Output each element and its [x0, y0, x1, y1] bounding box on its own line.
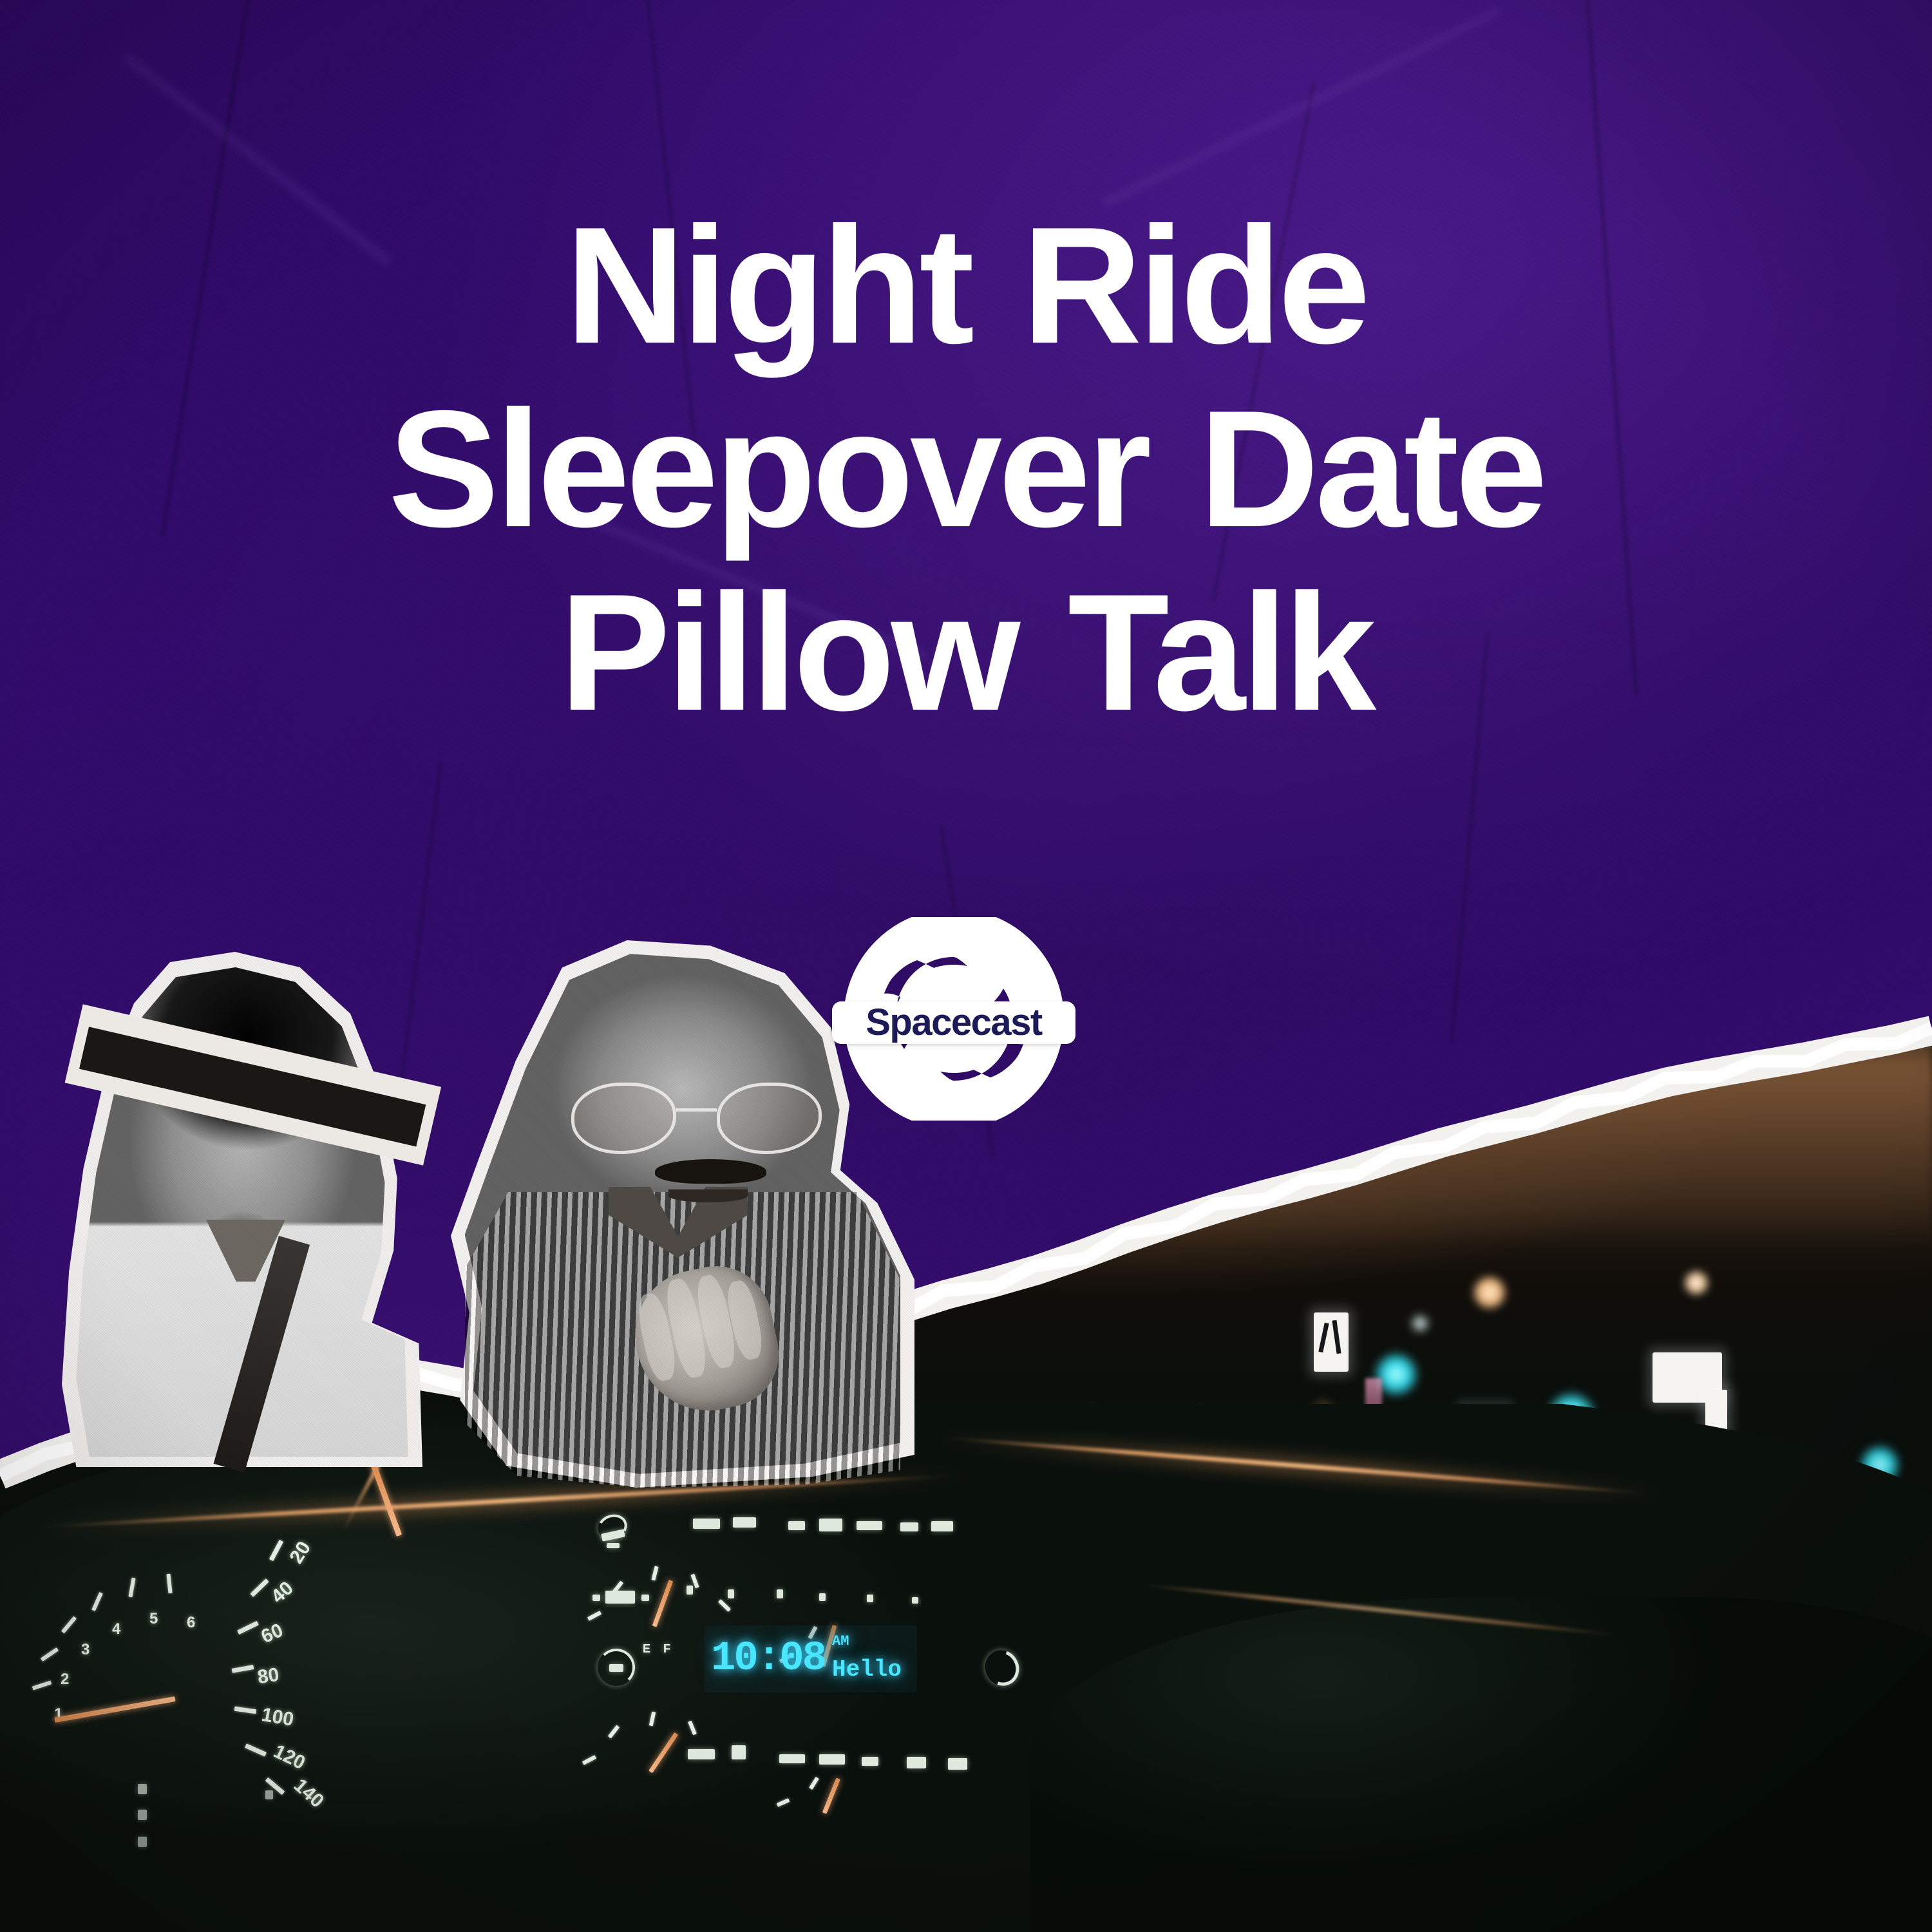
speed-number: 120 — [270, 1741, 308, 1775]
street-lamp-light — [1472, 1275, 1507, 1310]
console-indicator — [641, 1595, 649, 1601]
console-button[interactable] — [948, 1758, 967, 1770]
console-indicator — [912, 1597, 918, 1604]
console-indicator — [819, 1593, 826, 1601]
title-line-2: Sleepover Date — [116, 377, 1816, 560]
console-button[interactable] — [857, 1521, 882, 1530]
console-button[interactable] — [819, 1754, 845, 1765]
console-indicator — [777, 1589, 783, 1598]
spacecast-logo[interactable]: Spacecast — [832, 917, 1075, 1121]
console-button[interactable] — [693, 1519, 720, 1529]
console-button[interactable] — [732, 1745, 746, 1759]
tach-needle — [54, 1696, 176, 1723]
dash-indicator — [265, 1790, 273, 1799]
console-indicator — [592, 1595, 600, 1601]
speed-number: 40 — [267, 1577, 298, 1608]
console-indicator — [687, 1586, 693, 1595]
tach-number: 4 — [112, 1620, 120, 1638]
podcast-cover-poster: Night Ride Sleepover Date Pillow Talk — [0, 0, 1932, 1932]
tach-number: 5 — [149, 1610, 158, 1628]
console-lcd-display: 10:08 Hello AM — [705, 1625, 917, 1692]
episode-title: Night Ride Sleepover Date Pillow Talk — [0, 193, 1932, 744]
console-button[interactable] — [931, 1521, 953, 1531]
road-sign-lane-shift — [1314, 1312, 1349, 1372]
lcd-badge: AM — [832, 1633, 849, 1649]
spacecast-roundel-icon — [832, 917, 1075, 1121]
dash-indicator — [138, 1784, 147, 1794]
speed-number: 60 — [258, 1620, 287, 1649]
console-button[interactable] — [688, 1749, 715, 1759]
door-ajar-icon — [596, 1515, 630, 1551]
center-console: 10:08 Hello AM — [567, 1488, 1056, 1823]
console-indicator — [728, 1589, 734, 1598]
dash-indicator — [138, 1810, 147, 1820]
tach-number: 3 — [81, 1641, 90, 1659]
console-button[interactable] — [862, 1757, 878, 1766]
console-button[interactable] — [788, 1521, 805, 1530]
steering-wheel-silhouette — [1030, 1597, 1932, 1932]
tach-number: 2 — [61, 1671, 69, 1689]
recirculate-icon — [598, 1649, 640, 1691]
title-line-3: Pillow Talk — [116, 560, 1816, 744]
car-dashboard: 1 2 3 4 5 6 20 40 60 80 100 120 140 — [0, 1404, 1932, 1932]
moon-icon — [985, 1650, 1021, 1690]
speed-number: 140 — [289, 1775, 328, 1813]
console-button[interactable] — [819, 1519, 842, 1531]
speed-number: 20 — [285, 1538, 316, 1567]
lcd-secondary-value: Hello — [832, 1656, 902, 1683]
lcd-primary-value: 10:08 — [711, 1636, 825, 1682]
title-line-1: Night Ride — [116, 193, 1816, 377]
traffic-light-glow — [1409, 1312, 1431, 1334]
street-lamp-light — [1683, 1270, 1709, 1296]
tach-number: 6 — [187, 1614, 195, 1632]
console-button[interactable] — [907, 1757, 926, 1768]
console-button[interactable] — [779, 1754, 805, 1763]
console-button[interactable] — [900, 1522, 918, 1531]
dash-indicator — [138, 1837, 147, 1847]
console-button[interactable] — [605, 1591, 635, 1604]
speed-number: 80 — [256, 1664, 281, 1689]
console-button[interactable] — [733, 1517, 756, 1528]
console-indicator — [867, 1595, 873, 1602]
speedometer: 20 40 60 80 100 120 140 — [213, 1494, 522, 1829]
guest-cutout-left — [62, 952, 422, 1467]
speed-number: 100 — [260, 1704, 295, 1731]
